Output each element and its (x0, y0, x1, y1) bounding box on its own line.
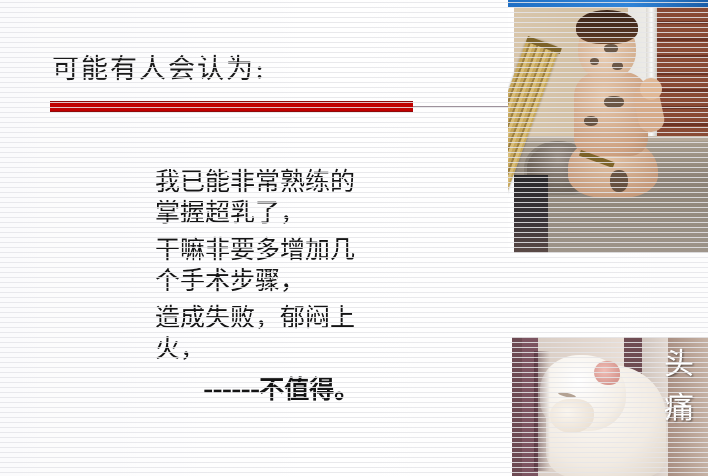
photo-top-smudge (604, 96, 624, 108)
photo-bottom-door-frame-shadow (534, 351, 550, 471)
photo-top-smudge (590, 58, 599, 65)
photo-top-baby-hair (576, 10, 638, 44)
photo-top-baby-hand (640, 78, 662, 100)
photo-top-dark-object (514, 175, 548, 253)
photo-bottom-overlay-text: 头 痛 (662, 343, 696, 431)
page-title: 可能有人会认为: (52, 52, 266, 88)
overlay-char: 痛 (662, 387, 696, 431)
body-paragraph: 干嘛非要多增加几 个手术步骤， (155, 234, 455, 296)
slide-canvas: 可能有人会认为: 我已能非常熟练的 掌握超乳了， 干嘛非要多增加几 个手术步骤，… (0, 0, 708, 476)
body-line: 掌握超乳了， (155, 197, 455, 228)
body-line: 干嘛非要多增加几 (155, 234, 455, 265)
body-line: 火， (155, 333, 455, 364)
photo-top-smudge (604, 44, 618, 53)
body-line: 我已能非常熟练的 (155, 166, 455, 197)
body-line: 个手术步骤， (155, 265, 455, 296)
title-divider-accent (50, 101, 413, 112)
photo-top-smudge (610, 170, 628, 192)
body-line: 造成失败，郁闷上 (155, 302, 455, 333)
photo-top-smudge (584, 116, 598, 126)
conclusion-line: ------不值得。 (155, 374, 455, 405)
photo-baby-with-broom (508, 0, 708, 253)
overlay-char: 头 (662, 343, 696, 387)
conclusion-dashes: ------ (203, 375, 259, 404)
photo-top-blue-band (508, 0, 708, 7)
photo-bottom-dog-ear (594, 361, 620, 385)
body-text: 我已能非常熟练的 掌握超乳了， 干嘛非要多增加几 个手术步骤， 造成失败，郁闷上… (155, 166, 455, 405)
conclusion-text: 不值得。 (259, 375, 359, 404)
photo-bottom-dog-muzzle (550, 399, 594, 433)
photo-dog-facing-wall: 头 痛 (512, 337, 708, 476)
body-paragraph: 我已能非常熟练的 掌握超乳了， (155, 166, 455, 228)
body-paragraph: 造成失败，郁闷上 火， (155, 302, 455, 364)
photo-top-smudge (612, 62, 623, 70)
